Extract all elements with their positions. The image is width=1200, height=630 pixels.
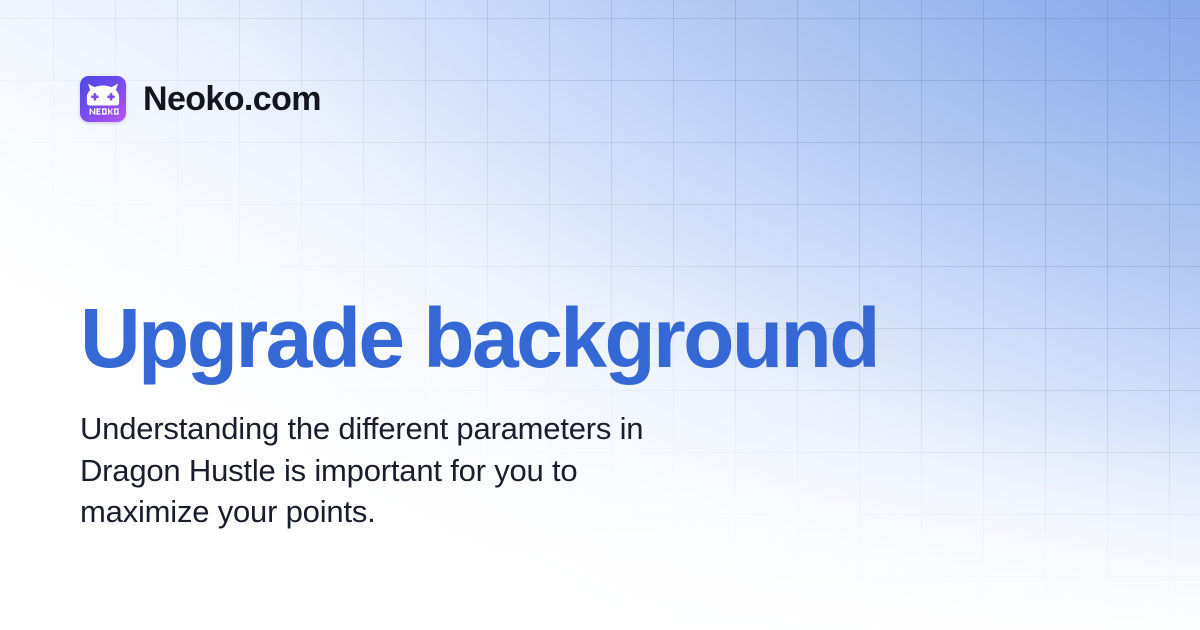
- neoko-logo-icon[interactable]: [80, 76, 126, 122]
- subtitle-line-3: maximize your points.: [80, 491, 820, 533]
- og-card: Neoko.com Upgrade background Understandi…: [0, 0, 1200, 630]
- page-title: Upgrade background: [80, 296, 1090, 380]
- brand-lockup[interactable]: Neoko.com: [80, 76, 321, 122]
- subtitle-line-1: Understanding the different parameters i…: [80, 408, 820, 450]
- brand-name: Neoko.com: [143, 82, 321, 116]
- content-block: Upgrade background Understanding the dif…: [80, 296, 1090, 533]
- page-subtitle: Understanding the different parameters i…: [80, 408, 820, 533]
- subtitle-line-2: Dragon Hustle is important for you to: [80, 450, 820, 492]
